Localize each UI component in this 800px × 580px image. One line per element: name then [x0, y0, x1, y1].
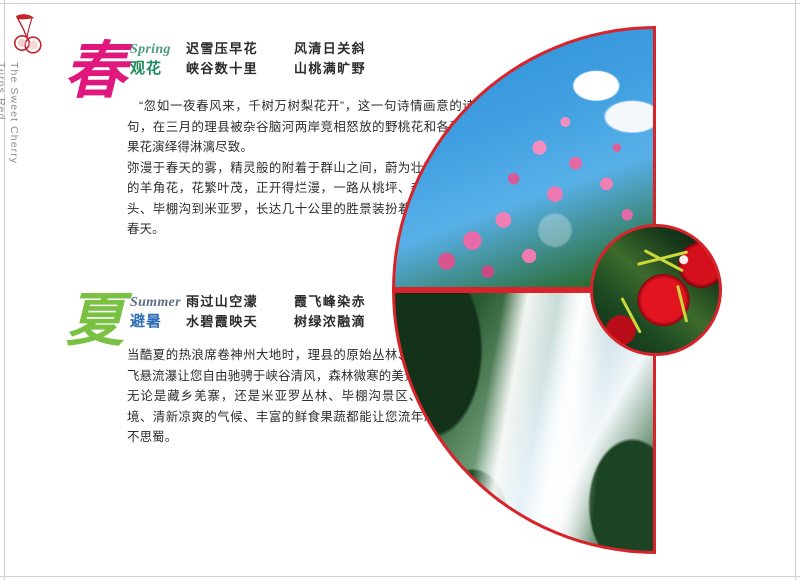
- brand-tagline: The Sweet Cherry Turns Red: [0, 62, 20, 202]
- season-name-en-summer: Summer: [130, 295, 186, 311]
- brand-tagline-line1: The Sweet Cherry: [8, 62, 20, 164]
- cherry-icon: [10, 12, 44, 58]
- poem-line-spring-4: 山桃满旷野: [294, 58, 402, 77]
- season-glyph-summer: 夏: [55, 285, 135, 357]
- poem-line-spring-3: 峡谷数十里: [186, 58, 294, 77]
- cherries-photo: [590, 224, 722, 356]
- poem-line-summer-2: 霞飞峰染赤: [294, 291, 402, 310]
- poem-line-summer-3: 水碧霞映天: [186, 311, 294, 330]
- poem-line-spring-1: 迟雪压早花: [186, 38, 294, 57]
- cherry-stem-icon: [620, 297, 641, 334]
- season-name-en-spring: Spring: [130, 42, 186, 58]
- brand-strip: The Sweet Cherry Turns Red: [8, 12, 54, 192]
- season-name-cn-spring: 观花: [130, 57, 186, 78]
- photo-collage-fan: [392, 26, 800, 554]
- page-frame-bottom: [0, 576, 800, 577]
- brand-tagline-line2: Turns Red: [0, 62, 7, 202]
- poem-line-spring-2: 风清日关斜: [294, 38, 402, 57]
- cherry-stem-icon: [676, 285, 688, 323]
- page-frame-top: [0, 3, 800, 4]
- season-name-cn-summer: 避暑: [130, 310, 186, 331]
- brochure-page: The Sweet Cherry Turns Red 春 Spring 迟雪压早…: [0, 0, 800, 580]
- season-glyph-spring: 春: [55, 36, 135, 108]
- poem-line-summer-4: 树绿浓融滴: [294, 311, 402, 330]
- poem-line-summer-1: 雨过山空濛: [186, 291, 294, 310]
